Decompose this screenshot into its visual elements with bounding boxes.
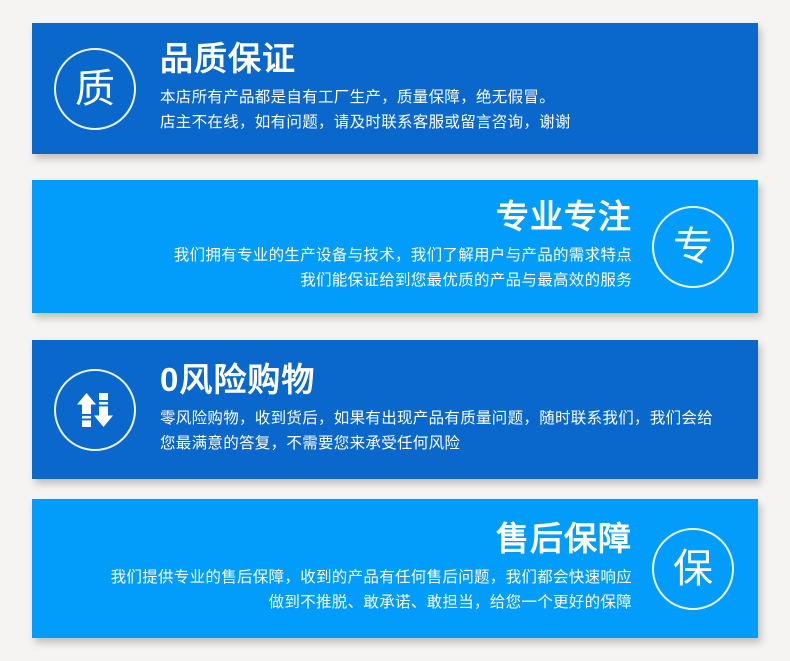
banner-line: 本店所有产品都是自有工厂生产，质量保障，绝无假冒。 [160,85,555,110]
banner-zero-risk-shopping: 0风险购物 零风险购物，收到货后，如果有出现产品有质量问题，随时联系我们，我们会… [32,340,758,479]
banner-title: 售后保障 [496,521,632,558]
banner-title: 品质保证 [160,41,296,78]
banner-line: 做到不推脱、敢承诺、敢担当，给您一个更好的保障 [269,590,632,615]
banner-line: 我们拥有专业的生产设备与技术，我们了解用户与产品的需求特点 [174,243,632,268]
circle-badge-zhuan-icon: 专 [652,206,734,288]
banner-line: 我们提供专业的售后保障，收到的产品有任何售后问题，我们都会快速响应 [111,565,632,590]
banner-line: 您最满意的答复，不需要您来承受任何风险 [160,431,460,456]
banner-text-block: 品质保证 本店所有产品都是自有工厂生产，质量保障，绝无假冒。 店主不在线，如有问… [160,41,571,135]
banner-professional-focus: 专业专注 我们拥有专业的生产设备与技术，我们了解用户与产品的需求特点 我们能保证… [32,180,758,313]
circle-badge-zhi-icon: 质 [54,48,136,130]
circle-badge-bao-icon: 保 [652,528,734,610]
circle-badge-exchange-arrows-icon [54,369,136,451]
banner-text-block: 售后保障 我们提供专业的售后保障，收到的产品有任何售后问题，我们都会快速响应 做… [111,521,632,615]
banner-title: 0风险购物 [160,362,315,399]
banner-line: 零风险购物，收到货后，如果有出现产品有质量问题，随时联系我们，我们会给 [160,406,713,431]
banner-quality-guarantee: 质 品质保证 本店所有产品都是自有工厂生产，质量保障，绝无假冒。 店主不在线，如… [32,23,758,154]
banner-text-block: 0风险购物 零风险购物，收到货后，如果有出现产品有质量问题，随时联系我们，我们会… [160,362,713,456]
banner-text-block: 专业专注 我们拥有专业的生产设备与技术，我们了解用户与产品的需求特点 我们能保证… [174,199,632,293]
service-guarantee-banner-stack: 质 品质保证 本店所有产品都是自有工厂生产，质量保障，绝无假冒。 店主不在线，如… [0,0,790,661]
banner-after-sales-guarantee: 售后保障 我们提供专业的售后保障，收到的产品有任何售后问题，我们都会快速响应 做… [32,499,758,638]
banner-line: 店主不在线，如有问题，请及时联系客服或留言咨询，谢谢 [160,110,571,135]
banner-line: 我们能保证给到您最优质的产品与最高效的服务 [300,268,632,293]
banner-title: 专业专注 [496,199,632,236]
